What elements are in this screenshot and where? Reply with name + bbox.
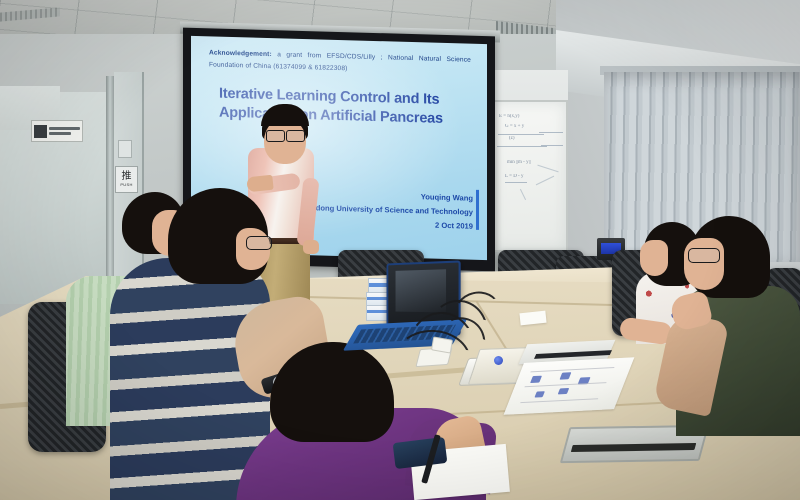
push-sign-sub: PUSH [120,183,132,187]
olive-shirt-glasses [688,248,720,263]
door-plate-logo-icon [34,125,47,138]
presenter-glasses [286,130,305,142]
handout-diagram-block [534,391,545,397]
slide-acknowledgement-label: Acknowledgement: [209,49,272,58]
handout-diagram-block [559,372,571,379]
slide-title: Iterative Learning Control and Its Appli… [219,85,469,130]
whiteboard-rule [505,182,527,183]
whiteboard-ink-line: L = D - y [505,174,523,179]
slide-accent-bar [476,190,479,230]
woman-head [640,240,668,276]
whiteboard-sketch [537,165,558,173]
presenter-glasses [266,130,285,142]
whiteboard-sketch [536,176,554,186]
presenter-right-hand [303,240,319,254]
olive-shirt-head [684,238,724,290]
wall-switch-plate[interactable] [118,140,132,158]
whiteboard-ink-line: E = h(x,y) [499,114,519,119]
whiteboard-sketch [520,189,526,200]
door-plate-text-lines [49,127,80,135]
whiteboard-rule [541,145,563,146]
printed-handout[interactable] [504,357,635,415]
handout-rule [524,382,606,387]
seminar-room-photo: 推 PUSH E = h(x,y) G = x + y (z) min ||m … [0,0,800,500]
whiteboard-ink-line: min ||m - y|| [507,160,531,165]
cable-port-slot [571,443,696,452]
whiteboard-ink-line: G = x + y [505,124,524,129]
handout-rule [520,398,598,403]
handout-diagram-block [558,388,570,394]
slide-acknowledgement: Acknowledgement: a grant from EFSD/CDS/L… [209,47,471,77]
whiteboard: E = h(x,y) G = x + y (z) min ||m - y|| L… [489,100,568,252]
device-indicator-icon [494,356,503,365]
push-sign: 推 PUSH [115,166,138,193]
door-name-plate [31,120,83,142]
presenter-left-hand [246,175,273,193]
whiteboard-rule [498,134,544,135]
whiteboard-ink-line: (z) [509,136,515,141]
handout-diagram-block [530,376,542,383]
whiteboard-rule [539,132,563,133]
striped-shirt-glasses [246,236,272,250]
push-sign-char: 推 [122,172,132,182]
whiteboard-rule [497,146,547,147]
handout-rule [530,367,614,372]
